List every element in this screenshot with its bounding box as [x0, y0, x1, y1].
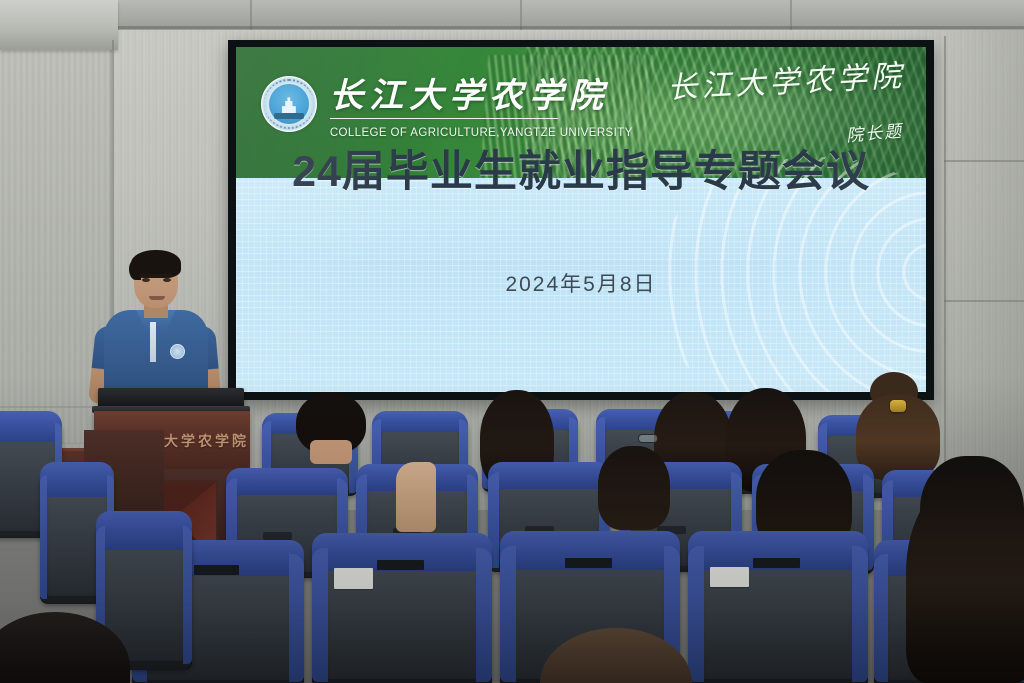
seat[interactable] — [312, 542, 492, 683]
seat-number-sticker — [710, 567, 750, 588]
hair-clip — [890, 400, 906, 412]
yangtze-university-emblem-icon — [261, 76, 317, 132]
person-hair — [906, 478, 1024, 683]
slide-main-title: 24届毕业生就业指导专题会议 — [236, 137, 926, 199]
slide-date: 2024年5月8日 — [236, 268, 926, 298]
seat-number-sticker — [334, 568, 374, 588]
speaker-placket — [150, 322, 156, 362]
projection-screen-frame: 长江大学农学院 COLLEGE OF AGRICULTURE,YANGTZE U… — [228, 40, 934, 400]
wall-seam-vertical — [944, 36, 946, 506]
speaker-mouth — [149, 296, 165, 300]
polo-chest-logo-icon — [170, 344, 185, 359]
speaker-eye-left — [142, 278, 150, 282]
banner-title-cn: 长江大学农学院 — [329, 68, 609, 117]
wall-seam-horizontal-2 — [944, 300, 1024, 302]
ceiling-soffit — [0, 0, 118, 50]
seat[interactable] — [688, 540, 868, 683]
eyeglasses-icon — [638, 434, 658, 443]
person-hair — [598, 446, 670, 530]
projection-screen: 长江大学农学院 COLLEGE OF AGRICULTURE,YANGTZE U… — [236, 47, 926, 392]
wall-seam-horizontal — [944, 160, 1024, 162]
person-shoulder — [396, 462, 436, 532]
banner-underline — [330, 118, 558, 120]
conference-room-photo: 长江大学农学院 COLLEGE OF AGRICULTURE,YANGTZE U… — [0, 0, 1024, 683]
person-neck — [310, 440, 352, 464]
speaker-eye-right — [163, 278, 171, 282]
